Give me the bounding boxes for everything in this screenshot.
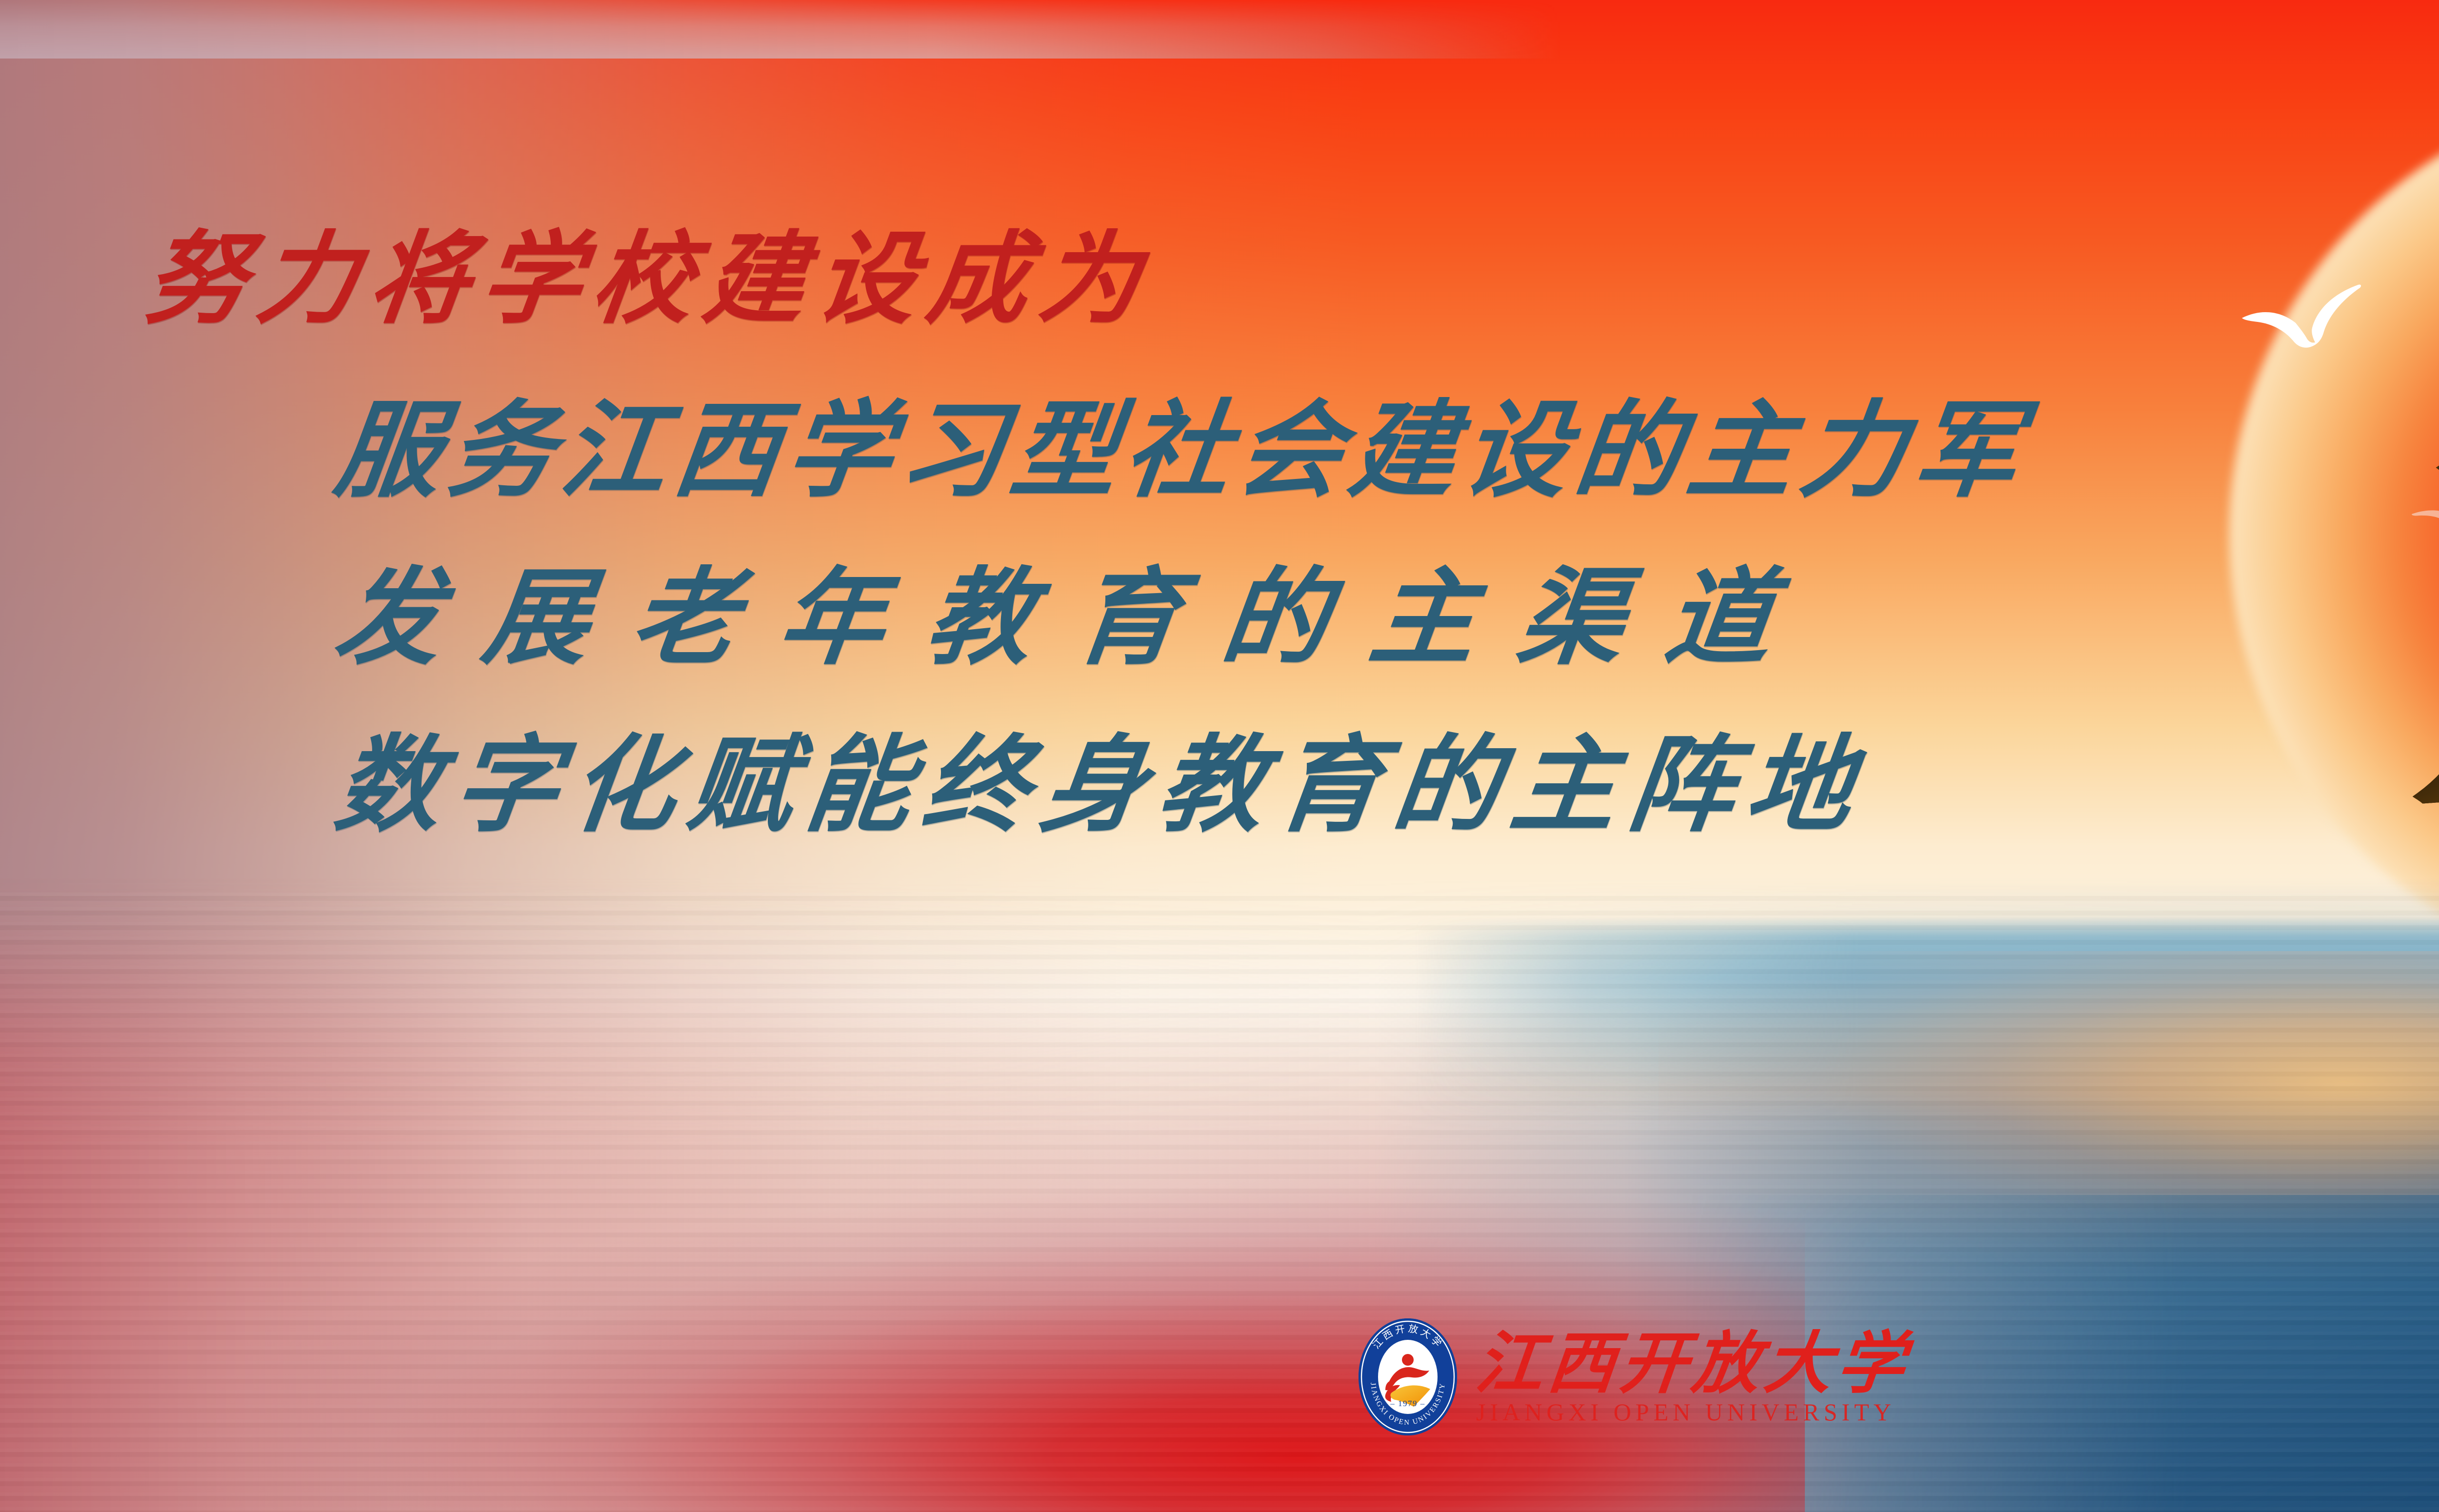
motto-calligraphy-block: 办 学 定 位 — [2412, 259, 2439, 1019]
motto-char-ding: 定 — [2413, 561, 2439, 804]
logo-wordmark: 江西开放大学 JIANGXI OPEN UNIVERSITY — [1476, 1330, 1909, 1424]
logo-name-en: JIANGXI OPEN UNIVERSITY — [1476, 1400, 1909, 1424]
slogan-line-3: 数字化赋能终身教育的主阵地 — [330, 732, 2421, 837]
university-logo: 江西开放大学 JIANGXI OPEN UNIVERSITY – 1979 – … — [1356, 1317, 1909, 1437]
bottom-pale-strip — [0, 0, 1561, 59]
slogan-text-block: 努力将学校建设成为 服务江西学习型社会建设的主力军 发展老年教育的主渠道 数字化… — [0, 229, 2415, 837]
slogan-line-1: 服务江西学习型社会建设的主力军 — [330, 398, 2421, 502]
logo-name-cn: 江西开放大学 — [1473, 1330, 1913, 1397]
slogan-line-2: 发展老年教育的主渠道 — [330, 565, 2421, 670]
banner-canvas: 努力将学校建设成为 服务江西学习型社会建设的主力军 发展老年教育的主渠道 数字化… — [0, 0, 2439, 1512]
motion-blur-streaks — [0, 893, 2439, 1512]
badge-founded-year: – 1979 – — [1390, 1399, 1425, 1408]
logo-badge-seal: 江西开放大学 JIANGXI OPEN UNIVERSITY – 1979 – — [1356, 1317, 1459, 1437]
headline-line: 努力将学校建设成为 — [140, 229, 2420, 329]
motto-char-ban: 办 — [2430, 247, 2439, 478]
